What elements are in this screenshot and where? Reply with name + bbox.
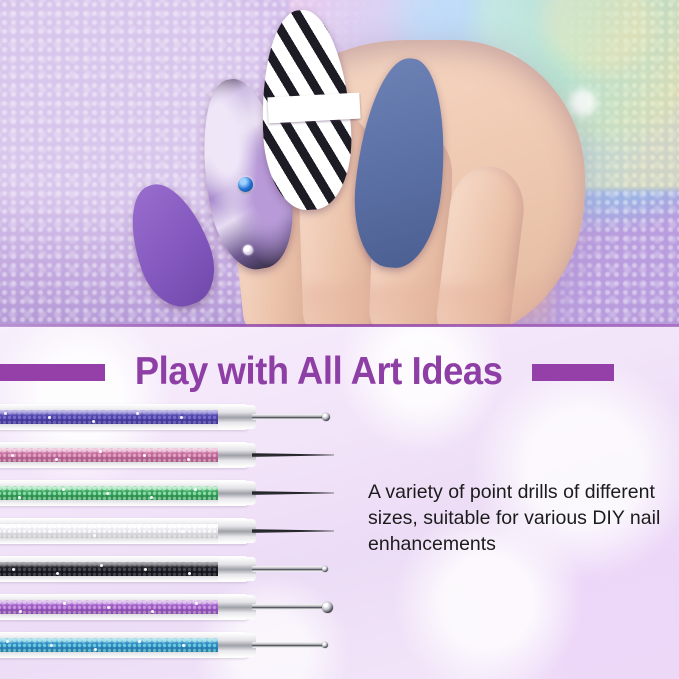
glitter-sparkle <box>195 602 198 605</box>
tool-ferrule <box>218 481 256 505</box>
glitter-sparkle <box>11 454 14 457</box>
glitter-fill <box>0 562 220 576</box>
glitter-sparkle <box>49 530 52 533</box>
glitter-fill <box>0 524 220 538</box>
glitter-sparkle <box>151 610 154 613</box>
glitter-sparkle <box>150 496 153 499</box>
glitter-sparkle <box>12 568 15 571</box>
glitter-sparkle <box>107 606 110 609</box>
tool-ferrule <box>218 595 256 619</box>
glitter-sparkle <box>136 412 139 415</box>
tool-ferrule <box>218 557 256 581</box>
glitter-sparkle <box>18 496 21 499</box>
glitter-sparkle <box>181 530 184 533</box>
glitter-sparkle <box>63 602 66 605</box>
glitter-sparkle <box>93 534 96 537</box>
glitter-sparkle <box>106 492 109 495</box>
glitter-sparkle <box>180 416 183 419</box>
glitter-sparkle <box>99 450 102 453</box>
glitter-sparkle <box>144 568 147 571</box>
tool-shaft <box>252 604 324 610</box>
tool-ferrule <box>218 519 256 543</box>
glitter-sparkle <box>100 564 103 567</box>
glitter-sparkle <box>194 488 197 491</box>
glitter-sparkle <box>56 572 59 575</box>
glitter-fill <box>0 486 220 500</box>
headline-bar-right <box>532 364 614 381</box>
tool-shaft <box>252 566 324 572</box>
blue-gem <box>238 177 253 192</box>
nail-art-photo: Close-up of a hand with purple marbled s… <box>0 0 679 326</box>
glitter-sparkle <box>187 458 190 461</box>
product-infographic: Close-up of a hand with purple marbled s… <box>0 0 679 679</box>
rhinestone-cluster <box>267 93 360 124</box>
glitter-fill <box>0 410 220 424</box>
ball-tip <box>322 642 328 648</box>
glitter-sparkle <box>94 648 97 651</box>
tool-ferrule <box>218 633 256 657</box>
glitter-sparkle <box>188 572 191 575</box>
glitter-sparkle <box>4 412 7 415</box>
glitter-sparkle <box>138 640 141 643</box>
glitter-fill <box>0 600 220 614</box>
glitter-sparkle <box>48 416 51 419</box>
ball-tip <box>322 413 330 421</box>
glitter-sparkle <box>182 644 185 647</box>
ball-tip <box>322 602 333 613</box>
glitter-sparkle <box>6 640 9 643</box>
feature-description: A variety of point drills of different s… <box>368 479 668 557</box>
tool-shaft <box>252 414 324 420</box>
needle-tip <box>252 453 334 457</box>
page-title: Play with All Art Ideas <box>135 350 503 394</box>
glitter-fill <box>0 638 220 652</box>
glitter-sparkle <box>137 526 140 529</box>
glitter-sparkle <box>92 420 95 423</box>
headline-row: Play with All Art Ideas <box>0 347 679 397</box>
glitter-sparkle <box>19 610 22 613</box>
glitter-sparkle <box>62 488 65 491</box>
needle-tip <box>252 491 334 495</box>
tool-ferrule <box>218 405 256 429</box>
clear-gem <box>243 245 253 255</box>
tool-ferrule <box>218 443 256 467</box>
headline-bar-left <box>0 364 105 381</box>
glitter-sparkle <box>143 454 146 457</box>
feature-panel: Play with All Art Ideas A variety of poi… <box>0 327 679 679</box>
needle-tip <box>252 529 334 533</box>
glitter-sparkle <box>55 458 58 461</box>
glitter-sparkle <box>5 526 8 529</box>
ball-tip <box>322 566 328 572</box>
tool-shaft <box>252 642 324 648</box>
knuckle-shadow <box>300 286 550 326</box>
glitter-sparkle <box>50 644 53 647</box>
